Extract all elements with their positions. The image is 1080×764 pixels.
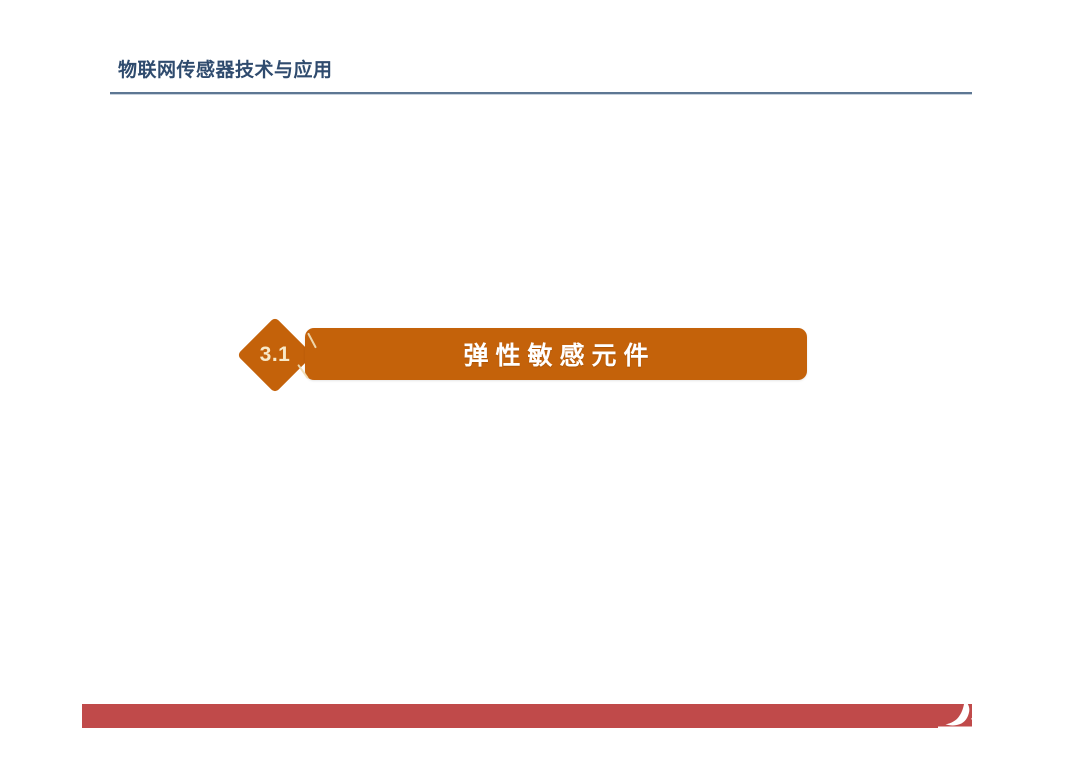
flame-logo-icon	[938, 698, 984, 734]
section-banner: 3.1 弹性敏感元件	[238, 316, 810, 402]
section-title-label: 弹性敏感元件	[305, 328, 807, 380]
slide-canvas: 物联网传感器技术与应用 3.1 弹性敏感元件	[0, 0, 1080, 764]
page-title: 物联网传感器技术与应用	[118, 60, 333, 83]
footer-bar	[82, 704, 972, 728]
header-divider-shadow	[110, 94, 972, 95]
